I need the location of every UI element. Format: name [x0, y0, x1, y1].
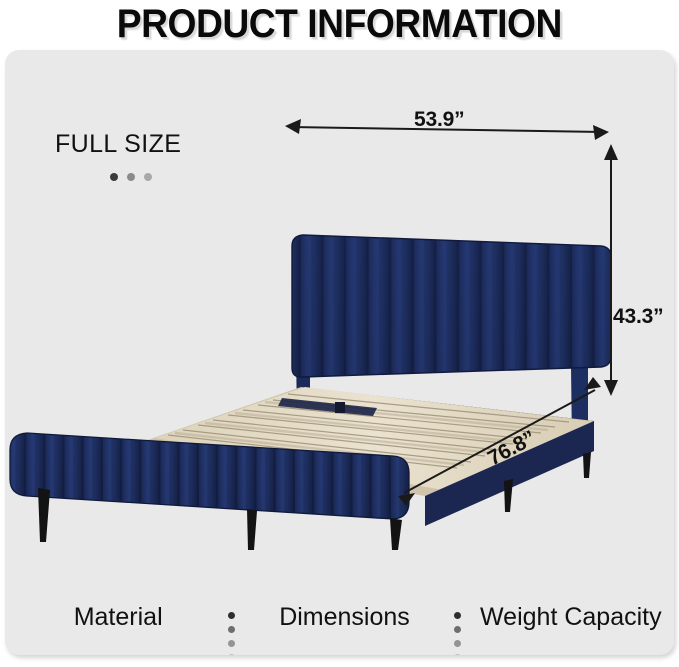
headboard [285, 230, 620, 385]
dot [454, 612, 461, 619]
spec-dimensions: Dimensions 76.8” * 53.9” * 43.3” [236, 590, 452, 655]
dot [454, 626, 461, 633]
dot [228, 640, 235, 647]
page-title: PRODUCT INFORMATION [117, 4, 562, 44]
title-bar: PRODUCT INFORMATION [0, 0, 679, 48]
spec-weight-heading: Weight Capacity [480, 602, 662, 632]
full-size-label: FULL SIZE [55, 130, 235, 159]
spec-weight-capacity: Weight Capacity 800 lbs [463, 590, 674, 655]
spec-dimensions-heading: Dimensions [279, 602, 410, 632]
spec-material-heading: Material [74, 602, 163, 632]
spec-material: Material Velvet Fabric [10, 590, 226, 655]
dot [454, 654, 461, 655]
dot [454, 640, 461, 647]
full-size-block: FULL SIZE [55, 130, 235, 181]
dimension-height-label: 43.3” [613, 305, 663, 329]
dot [144, 173, 152, 181]
spec-row: Material Velvet Fabric Dimensions 76.8” … [10, 590, 674, 655]
spec-divider [453, 590, 463, 655]
dot [110, 173, 118, 181]
dot [228, 612, 235, 619]
product-info-panel: FULL SIZE 53.9” 43.3” 76.8” Material Vel… [5, 50, 674, 655]
dot [228, 654, 235, 655]
full-size-dots [110, 173, 235, 181]
dimension-width-label: 53.9” [414, 108, 464, 132]
dot [127, 173, 135, 181]
dot [228, 626, 235, 633]
spec-divider [226, 590, 236, 655]
